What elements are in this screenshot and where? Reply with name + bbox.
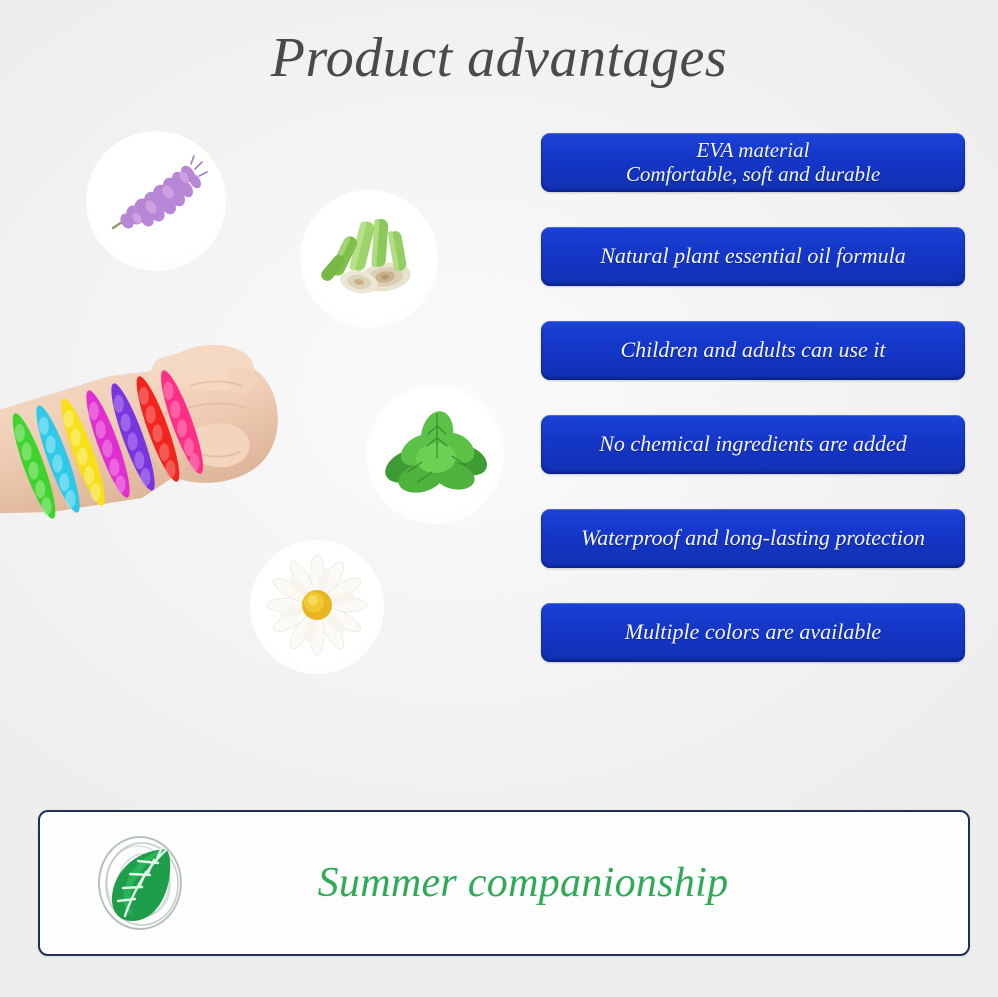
feature-label: Waterproof and long-lasting protection xyxy=(581,526,925,551)
ingredient-circle-mint xyxy=(366,386,504,524)
feature-box-1[interactable]: EVA material Comfortable, soft and durab… xyxy=(541,133,965,192)
feature-label: Multiple colors are available xyxy=(625,620,881,645)
product-photo-bracelets-on-wrist xyxy=(0,316,352,566)
summer-banner[interactable]: Summer companionship xyxy=(38,810,970,956)
summer-slogan: Summer companionship xyxy=(188,859,968,907)
leaf-icon xyxy=(92,831,188,935)
lemongrass-icon xyxy=(307,197,431,321)
feature-box-3[interactable]: Children and adults can use it xyxy=(541,321,965,380)
leaf-logo xyxy=(92,831,188,935)
feature-label: EVA material Comfortable, soft and durab… xyxy=(626,139,880,187)
mint-icon xyxy=(374,394,496,516)
ingredient-circle-lemongrass xyxy=(300,190,438,328)
feature-box-5[interactable]: Waterproof and long-lasting protection xyxy=(541,509,965,568)
ingredient-collage xyxy=(0,0,540,760)
feature-label: Children and adults can use it xyxy=(620,338,885,363)
feature-label: Natural plant essential oil formula xyxy=(600,244,906,269)
feature-list: EVA material Comfortable, soft and durab… xyxy=(541,133,965,662)
lavender-icon xyxy=(91,136,221,266)
feature-label: No chemical ingredients are added xyxy=(599,432,907,457)
feature-box-2[interactable]: Natural plant essential oil formula xyxy=(541,227,965,286)
ingredient-circle-lavender xyxy=(86,131,226,271)
feature-box-4[interactable]: No chemical ingredients are added xyxy=(541,415,965,474)
feature-box-6[interactable]: Multiple colors are available xyxy=(541,603,965,662)
hand-bracelets-illustration xyxy=(0,316,352,566)
